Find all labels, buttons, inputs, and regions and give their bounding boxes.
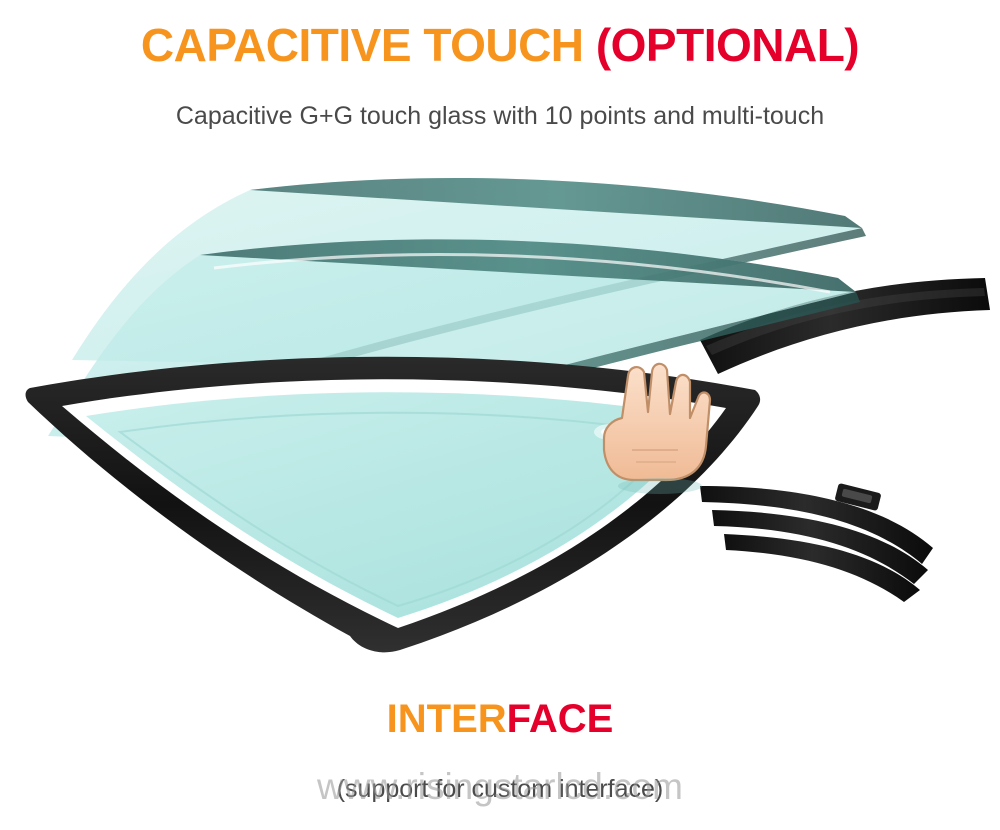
footer-title: INTERFACE bbox=[0, 697, 1000, 742]
page-title-main: CAPACITIVE TOUCH bbox=[141, 19, 596, 71]
footer-subtitle: (support for custom interface) bbox=[0, 775, 1000, 804]
footer-title-accent: FACE bbox=[507, 697, 614, 741]
bottom-fpc-cable bbox=[690, 480, 933, 602]
page-title: CAPACITIVE TOUCH (OPTIONAL) bbox=[0, 18, 1000, 72]
page-title-accent: (OPTIONAL) bbox=[596, 19, 859, 71]
footer-title-main: INTER bbox=[387, 697, 507, 741]
illustration-stage bbox=[0, 150, 1000, 690]
page-subtitle: Capacitive G+G touch glass with 10 point… bbox=[0, 102, 1000, 131]
